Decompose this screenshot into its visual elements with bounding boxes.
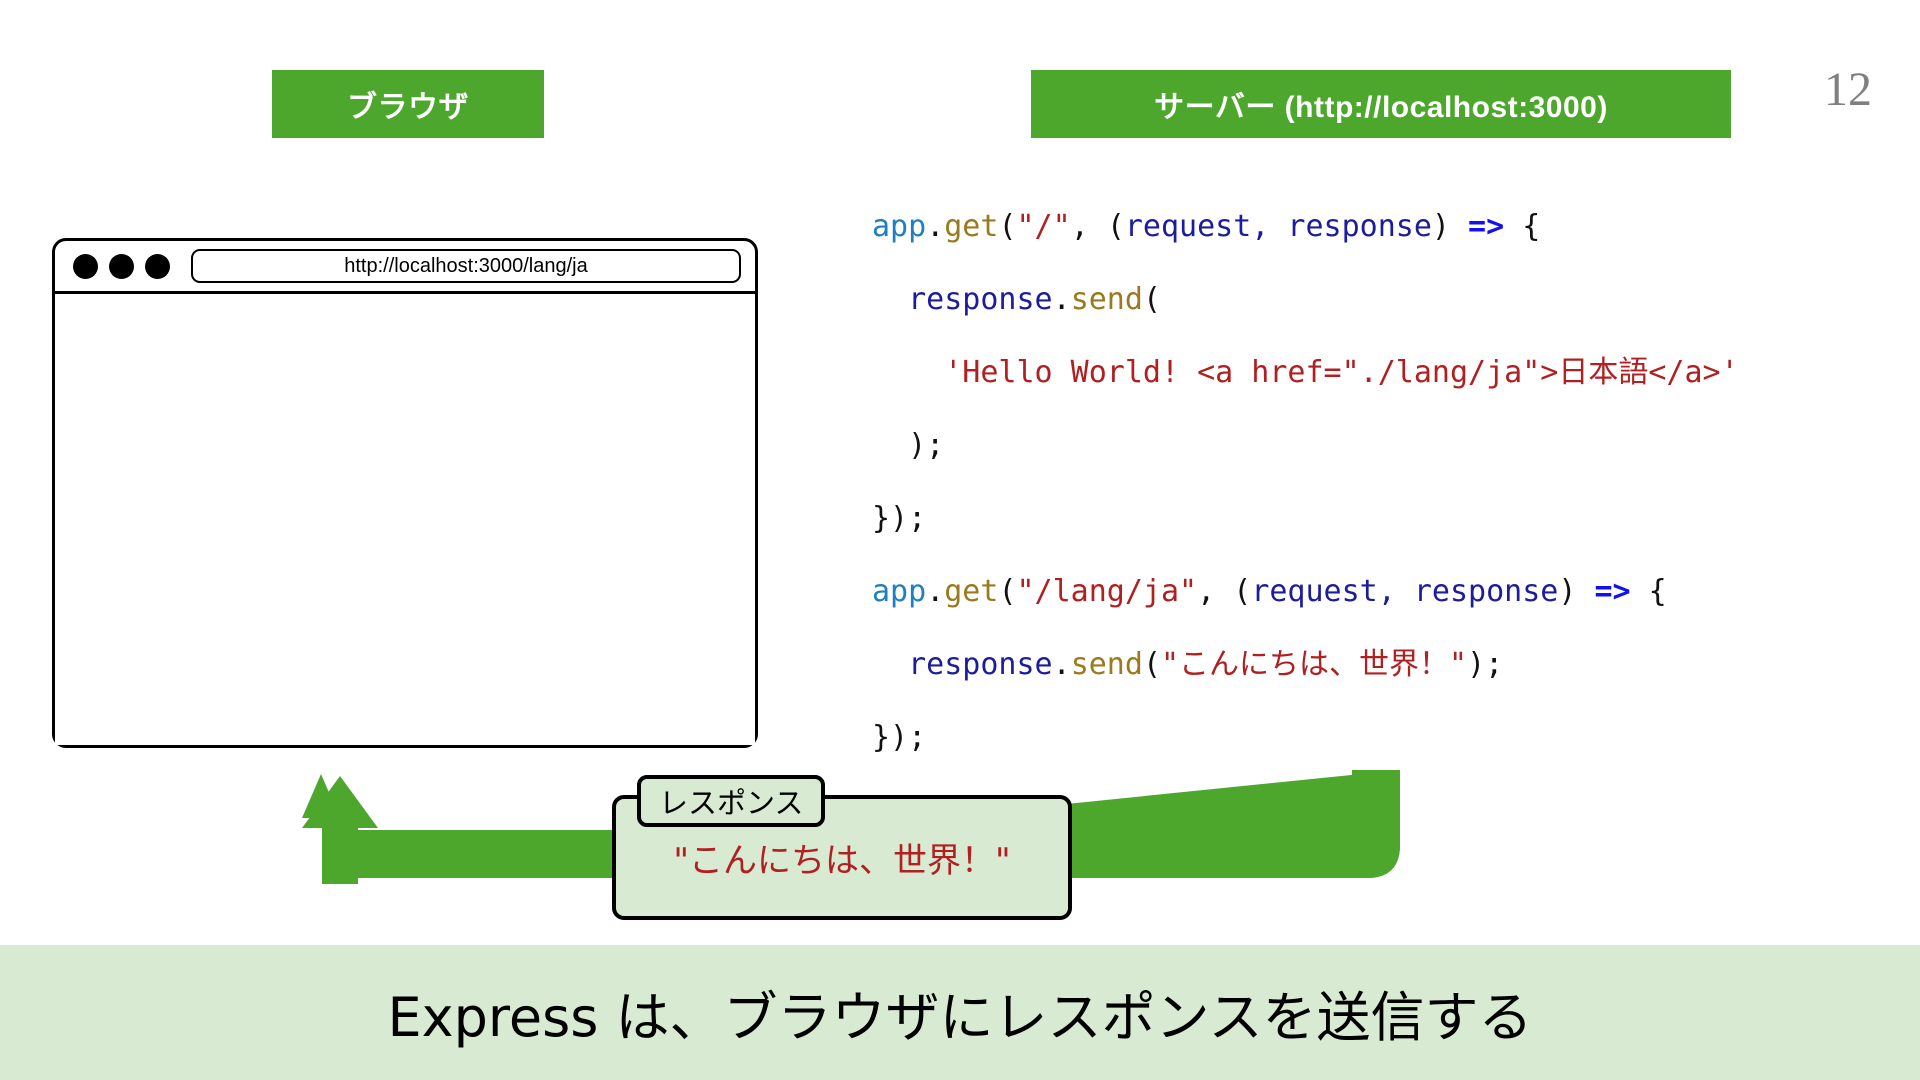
browser-section-badge: ブラウザ bbox=[272, 70, 544, 138]
server-section-badge: サーバー (http://localhost:3000) bbox=[1031, 70, 1731, 138]
server-code-block: app.get("/", (request, response) => { re… bbox=[872, 190, 1882, 774]
code-line: response.send( bbox=[872, 263, 1882, 336]
page-number: 12 bbox=[1824, 62, 1872, 117]
response-payload-text: "こんにちは、世界！" bbox=[673, 833, 1010, 882]
code-token-str: "/lang/ja" bbox=[1017, 574, 1198, 609]
code-token-punc: ( bbox=[998, 209, 1016, 244]
code-token-fn: send bbox=[1071, 282, 1143, 317]
code-line: }); bbox=[872, 482, 1882, 555]
code-line: ); bbox=[872, 409, 1882, 482]
window-dot-maximize-icon[interactable] bbox=[145, 254, 170, 279]
browser-url-input[interactable]: http://localhost:3000/lang/ja bbox=[191, 249, 741, 283]
code-token-str: "こんにちは、世界！" bbox=[1161, 647, 1467, 682]
code-token-param: response bbox=[908, 282, 1053, 317]
code-token-punc: ( bbox=[998, 574, 1016, 609]
response-callout-label-text: レスポンス bbox=[659, 780, 803, 822]
code-token-punc: { bbox=[1631, 574, 1667, 609]
code-token-punc: ); bbox=[908, 428, 944, 463]
code-token-punc: { bbox=[1504, 209, 1540, 244]
code-line: app.get("/lang/ja", (request, response) … bbox=[872, 555, 1882, 628]
code-token-punc: ( bbox=[1233, 574, 1251, 609]
code-token-punc: ( bbox=[1107, 209, 1125, 244]
code-indent bbox=[872, 428, 908, 463]
code-token-fn: get bbox=[944, 209, 998, 244]
code-token-punc: ); bbox=[1467, 647, 1503, 682]
slide-canvas: ブラウザ サーバー (http://localhost:3000) 12 htt… bbox=[0, 0, 1920, 1080]
server-section-badge-label: サーバー (http://localhost:3000) bbox=[1154, 82, 1608, 126]
code-token-punc: . bbox=[926, 574, 944, 609]
code-token-fn: send bbox=[1071, 647, 1143, 682]
code-indent bbox=[872, 282, 908, 317]
code-token-param: request, response bbox=[1125, 209, 1432, 244]
code-token-punc: , bbox=[1197, 574, 1233, 609]
code-token-str: "/" bbox=[1017, 209, 1071, 244]
browser-window-mockup: http://localhost:3000/lang/ja bbox=[52, 238, 758, 748]
browser-chrome-bar: http://localhost:3000/lang/ja bbox=[55, 241, 755, 294]
code-token-str: 'Hello World! <a href="./lang/ja">日本語</a… bbox=[944, 355, 1738, 390]
code-token-punc: . bbox=[1053, 282, 1071, 317]
code-token-fn: get bbox=[944, 574, 998, 609]
code-token-obj: app bbox=[872, 209, 926, 244]
window-dot-minimize-icon[interactable] bbox=[109, 254, 134, 279]
window-dot-close-icon[interactable] bbox=[73, 254, 98, 279]
browser-viewport bbox=[55, 294, 755, 745]
code-token-punc: ( bbox=[1143, 282, 1161, 317]
code-line: 'Hello World! <a href="./lang/ja">日本語</a… bbox=[872, 336, 1882, 409]
code-token-punc: ( bbox=[1143, 647, 1161, 682]
code-token-punc: . bbox=[926, 209, 944, 244]
code-token-param: request, response bbox=[1251, 574, 1558, 609]
code-line: response.send("こんにちは、世界！"); bbox=[872, 628, 1882, 701]
code-token-punc: }); bbox=[872, 720, 926, 755]
code-token-arrow: => bbox=[1594, 574, 1630, 609]
caption-band: Express は、ブラウザにレスポンスを送信する bbox=[0, 945, 1920, 1080]
code-token-param: response bbox=[908, 647, 1053, 682]
code-line: app.get("/", (request, response) => { bbox=[872, 190, 1882, 263]
code-token-punc: ) bbox=[1432, 209, 1468, 244]
code-token-arrow: => bbox=[1468, 209, 1504, 244]
code-token-punc: , bbox=[1071, 209, 1107, 244]
code-indent bbox=[872, 647, 908, 682]
code-token-punc: . bbox=[1053, 647, 1071, 682]
caption-text: Express は、ブラウザにレスポンスを送信する bbox=[388, 973, 1533, 1052]
browser-section-badge-label: ブラウザ bbox=[347, 82, 469, 126]
code-token-punc: }); bbox=[872, 501, 926, 536]
code-token-obj: app bbox=[872, 574, 926, 609]
code-token-punc: ) bbox=[1558, 574, 1594, 609]
code-indent bbox=[872, 355, 944, 390]
response-callout-label: レスポンス bbox=[637, 775, 825, 827]
code-line: }); bbox=[872, 701, 1882, 774]
